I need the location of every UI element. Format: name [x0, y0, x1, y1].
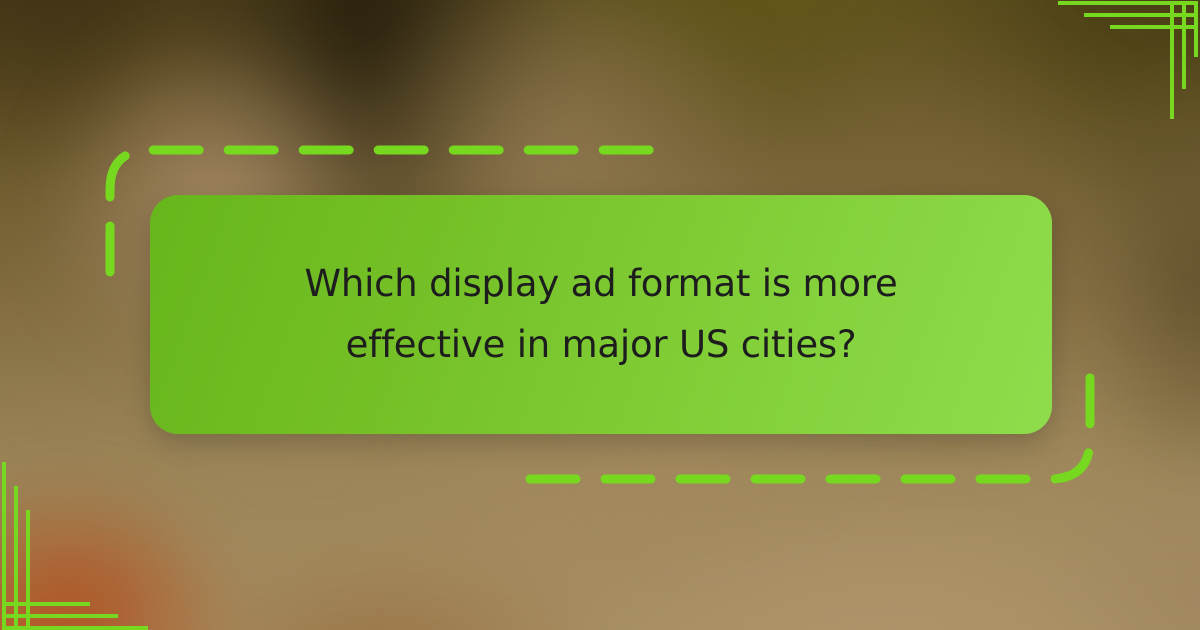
poster-canvas: Which display ad format is more effectiv…	[0, 0, 1200, 630]
question-card: Which display ad format is more effectiv…	[150, 195, 1052, 434]
corner-line-h2	[1084, 13, 1198, 17]
corner-line-h1	[1058, 1, 1198, 5]
corner-line-v5	[14, 486, 18, 628]
corner-line-v3	[1170, 1, 1174, 119]
corner-line-v1	[1194, 1, 1198, 57]
corner-line-h5	[2, 614, 118, 618]
corner-line-v6	[26, 510, 30, 628]
corner-line-v2	[1182, 1, 1186, 89]
corner-line-h4	[2, 602, 90, 606]
card-title: Which display ad format is more effectiv…	[221, 254, 981, 375]
corner-line-h6	[2, 626, 148, 630]
